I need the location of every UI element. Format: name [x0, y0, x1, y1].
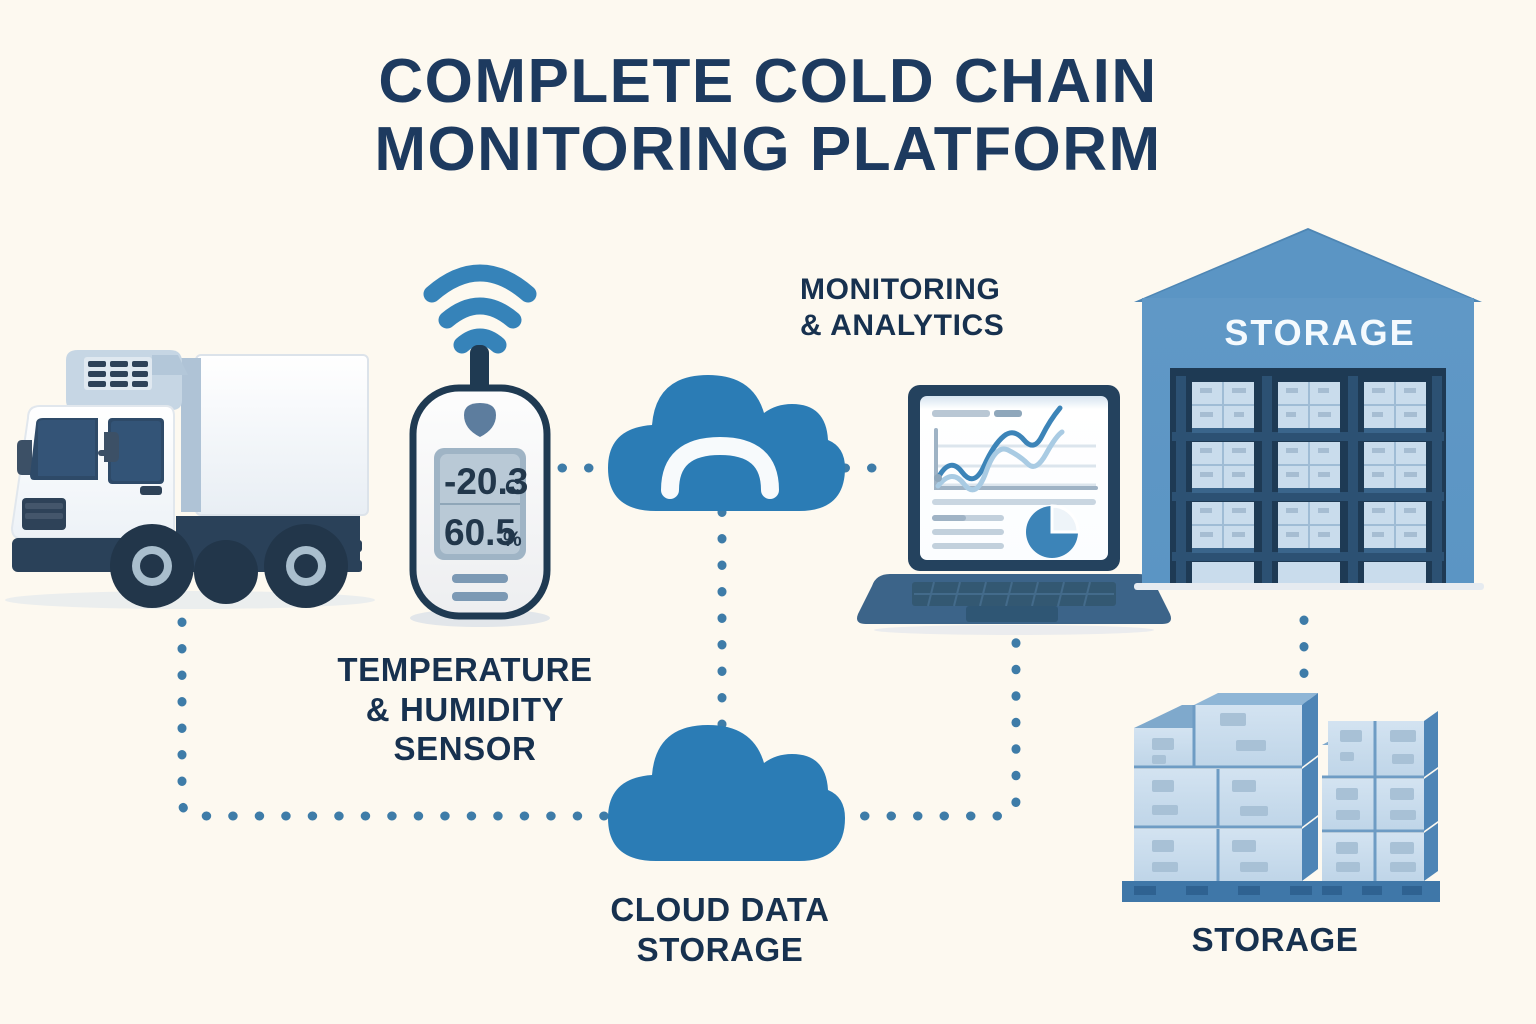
- monitoring-label-line-2: & ANALYTICS: [800, 308, 1130, 344]
- cloud-label-line-1: CLOUD DATA: [545, 890, 895, 930]
- warehouse-racks: [1172, 376, 1444, 586]
- cloud-label-line-2: STORAGE: [545, 930, 895, 970]
- storage-label: STORAGE: [1105, 920, 1445, 960]
- svg-text:%: %: [503, 528, 522, 551]
- laptop-pie-chart: [1026, 506, 1078, 558]
- monitoring-label-line-1: MONITORING: [800, 272, 1130, 308]
- refrigerated-truck: [5, 350, 375, 609]
- infographic-canvas: -20.3 C 60.5 % COMPLETE COLD CHAIN MONIT…: [0, 0, 1536, 1024]
- wifi-signal-icon: [432, 273, 528, 345]
- warehouse-storage-sign: STORAGE: [1170, 312, 1470, 354]
- label-temperature-humidity-sensor: TEMPERATURE & HUMIDITY SENSOR: [275, 650, 655, 769]
- sensor-label-line-3: SENSOR: [275, 729, 655, 769]
- sensor-label-line-2: & HUMIDITY: [275, 690, 655, 730]
- svg-text:C: C: [505, 476, 520, 499]
- pallet-stack-left: [1122, 693, 1318, 902]
- cloud-upload-node: [608, 375, 845, 511]
- connector-cloudstorage-to-laptop: [838, 640, 1016, 816]
- pallet-stacks: [1122, 693, 1440, 902]
- pallet-stack-right: [1312, 711, 1440, 902]
- label-storage-pallets: STORAGE: [1105, 920, 1445, 960]
- infographic-illustration: -20.3 C 60.5 %: [0, 0, 1536, 1024]
- label-cloud-data-storage: CLOUD DATA STORAGE: [545, 890, 895, 969]
- monitoring-analytics-laptop: [857, 385, 1171, 635]
- temperature-humidity-sensor-device: [410, 273, 550, 627]
- warehouse-storage-building: [1134, 228, 1484, 590]
- sensor-label-line-1: TEMPERATURE: [275, 650, 655, 690]
- label-monitoring-analytics: MONITORING & ANALYTICS: [800, 272, 1130, 344]
